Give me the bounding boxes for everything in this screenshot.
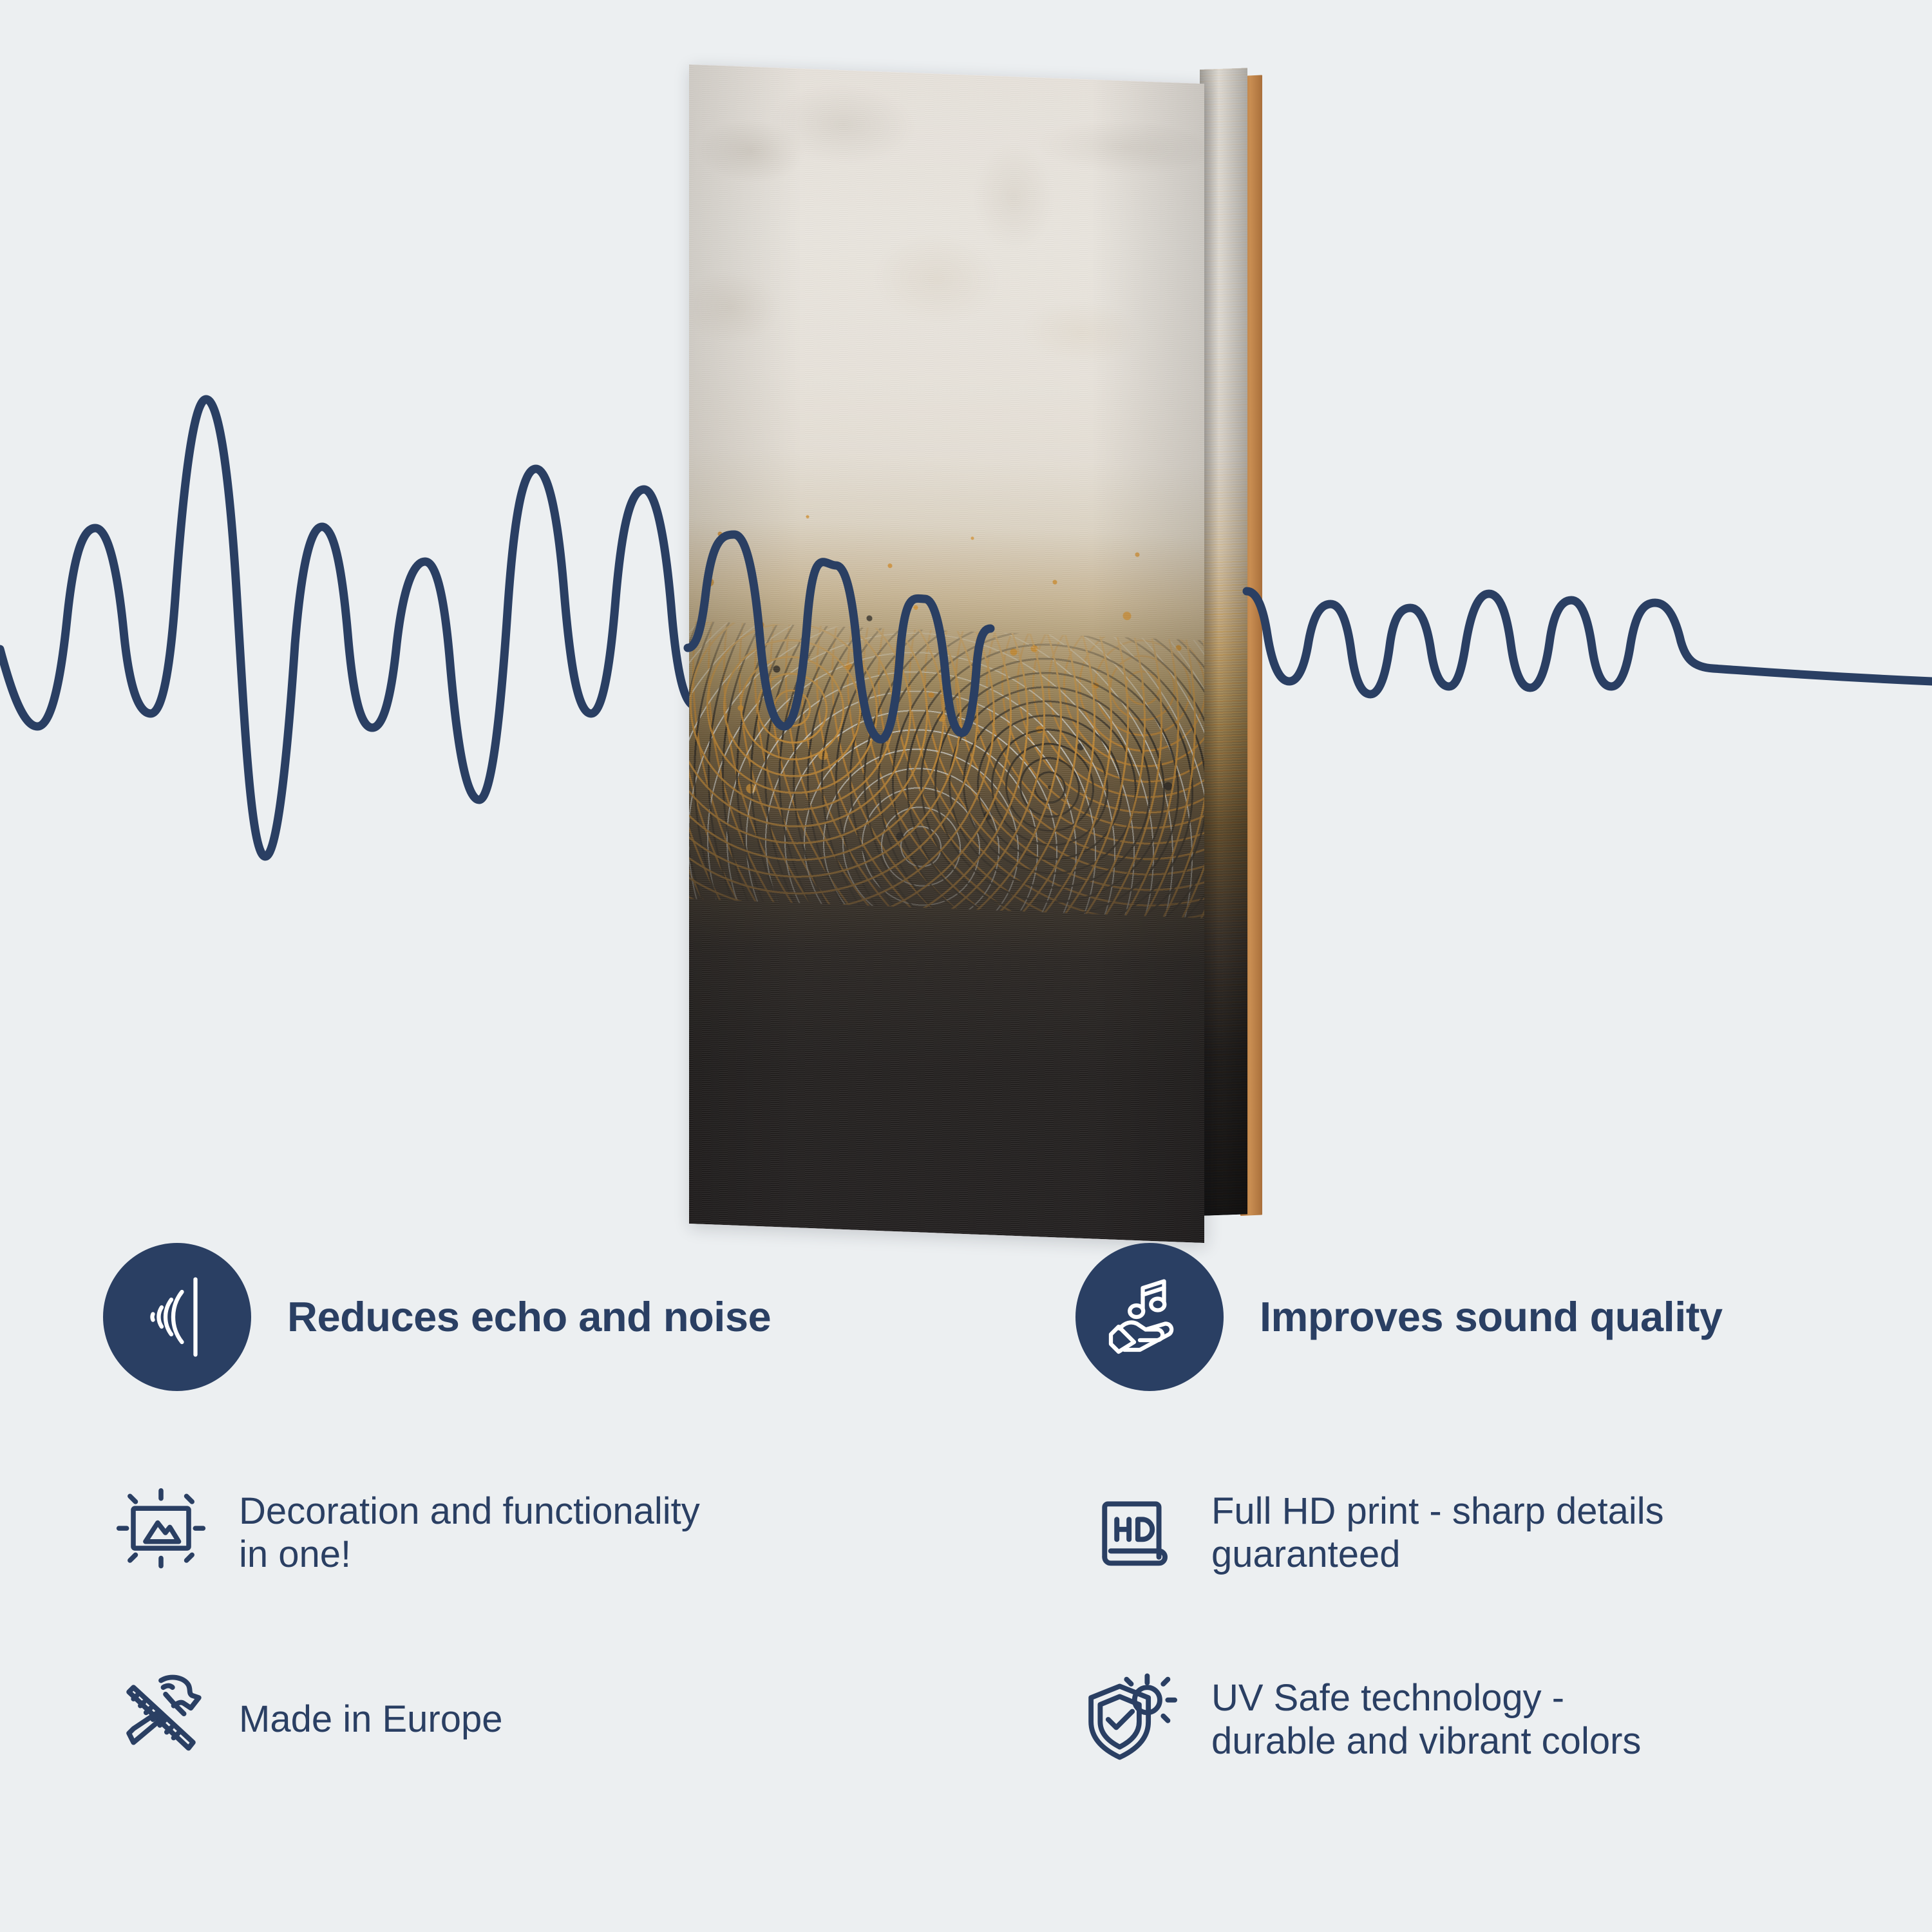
sound-wave-damped-path — [1247, 591, 1932, 694]
feature-label: UV Safe technology - durable and vibrant… — [1211, 1676, 1641, 1763]
infographic-stage: Reduces echo and noise Improves s — [0, 0, 1932, 1932]
feature-label-line1: UV Safe technology - — [1211, 1676, 1641, 1719]
feature-label-line1: Made in Europe — [239, 1698, 502, 1741]
feature-label: Reduces echo and noise — [287, 1294, 771, 1340]
feature-made-in-europe: Made in Europe — [100, 1658, 502, 1781]
feature-uv-safe-technology: UV Safe technology - durable and vibrant… — [1072, 1658, 1641, 1781]
canvas-side-shading — [1200, 68, 1247, 1216]
canvas-front-face — [689, 64, 1204, 1243]
sound-wave-barrier-icon — [103, 1243, 251, 1391]
feature-label: Decoration and functionality in one! — [239, 1490, 700, 1577]
feature-label: Made in Europe — [239, 1698, 502, 1741]
feature-decoration-and-functionality: Decoration and functionality in one! — [100, 1472, 700, 1594]
feature-improves-sound-quality: Improves sound quality — [1075, 1243, 1723, 1391]
hd-screen-icon — [1072, 1472, 1195, 1594]
hand-music-note-icon — [1075, 1243, 1224, 1391]
feature-label-line2: guaranteed — [1211, 1533, 1664, 1576]
feature-list: Reduces echo and noise Improves s — [0, 1243, 1932, 1932]
feature-label-line1: Decoration and functionality — [239, 1490, 700, 1533]
feature-label: Improves sound quality — [1260, 1294, 1723, 1340]
ruler-hammer-icon — [100, 1658, 222, 1781]
feature-label-line1: Full HD print - sharp details — [1211, 1490, 1664, 1533]
feature-label: Full HD print - sharp details guaranteed — [1211, 1490, 1664, 1577]
shield-check-sun-icon — [1072, 1658, 1195, 1781]
feature-reduces-echo-and-noise: Reduces echo and noise — [103, 1243, 771, 1391]
canvas-artwork — [689, 64, 1269, 1236]
feature-label-line2: durable and vibrant colors — [1211, 1719, 1641, 1763]
feature-label-line2: in one! — [239, 1533, 700, 1576]
canvas-vignette — [689, 64, 1204, 1243]
framed-picture-rays-icon — [100, 1472, 222, 1594]
canvas-side-face — [1200, 68, 1247, 1216]
feature-full-hd-print: Full HD print - sharp details guaranteed — [1072, 1472, 1664, 1594]
